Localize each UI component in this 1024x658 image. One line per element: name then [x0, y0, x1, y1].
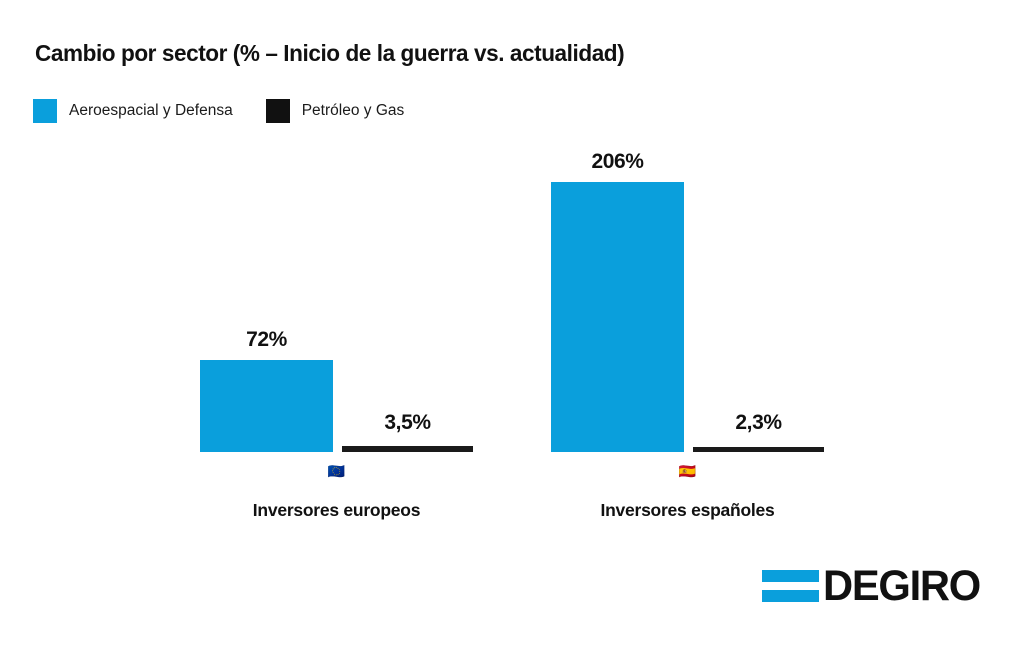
- category-label-spanish-investors: 🇪🇸 Inversores españoles: [551, 464, 824, 521]
- degiro-logo: DEGIRO: [762, 563, 985, 609]
- bar-rect: [342, 446, 473, 452]
- degiro-equals-mark-icon: [762, 570, 819, 602]
- bar-spanish-aerospace[interactable]: 206%: [551, 0, 684, 452]
- eu-flag-icon: 🇪🇺: [200, 464, 473, 481]
- chart-canvas: Cambio por sector (% – Inicio de la guer…: [0, 0, 1024, 658]
- bar-rect: [551, 182, 684, 452]
- bar-value-label: 2,3%: [735, 411, 781, 435]
- logo-bar-top: [762, 570, 819, 582]
- bar-group-european-investors: 72% 3,5%: [200, 0, 473, 452]
- bar-rect: [200, 360, 333, 452]
- spain-flag-icon: 🇪🇸: [551, 464, 824, 481]
- bar-value-label: 72%: [246, 328, 287, 352]
- bar-value-label: 3,5%: [384, 411, 430, 435]
- category-label-european-investors: 🇪🇺 Inversores europeos: [200, 464, 473, 521]
- bar-value-label: 206%: [591, 150, 643, 174]
- bar-group-spanish-investors: 206% 2,3%: [551, 0, 824, 452]
- bar-european-oil-gas[interactable]: 3,5%: [342, 0, 473, 452]
- plot-area: 72% 3,5% 206% 2,3% 🇪🇺: [0, 0, 1024, 658]
- category-label-text: Inversores europeos: [200, 500, 473, 521]
- bar-rect: [693, 447, 824, 452]
- bar-european-aerospace[interactable]: 72%: [200, 0, 333, 452]
- logo-bar-bottom: [762, 590, 819, 602]
- degiro-wordmark: DEGIRO: [823, 565, 980, 608]
- category-label-text: Inversores españoles: [551, 500, 824, 521]
- bar-spanish-oil-gas[interactable]: 2,3%: [693, 0, 824, 452]
